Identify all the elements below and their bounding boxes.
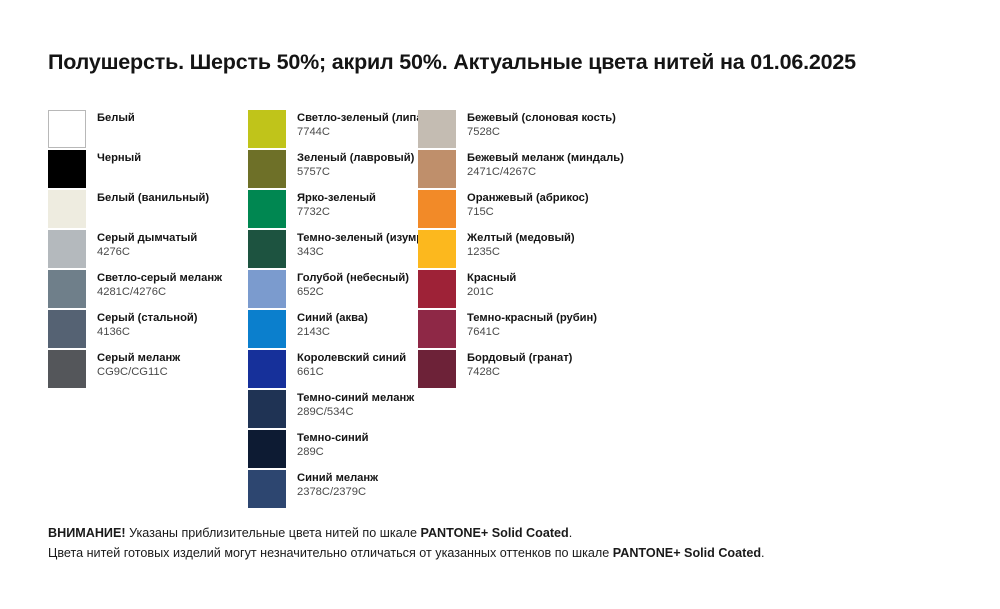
color-row: Темно-синий289C bbox=[248, 430, 418, 470]
color-pantone-code: 7528C bbox=[467, 126, 616, 139]
color-row: Зеленый (лавровый)5757C bbox=[248, 150, 418, 190]
color-name: Голубой (небесный) bbox=[297, 272, 409, 285]
color-row: Бежевый меланж (миндаль)2471C/4267C bbox=[418, 150, 698, 190]
color-swatch bbox=[248, 270, 286, 308]
color-labels: Серый (стальной)4136C bbox=[86, 310, 198, 339]
color-pantone-code: 661C bbox=[297, 366, 406, 379]
color-row: Темно-синий меланж289C/534C bbox=[248, 390, 418, 430]
color-swatch bbox=[418, 350, 456, 388]
color-swatch bbox=[418, 110, 456, 148]
color-pantone-code: CG9C/CG11C bbox=[97, 366, 180, 379]
footer-attention-label: ВНИМАНИЕ! bbox=[48, 526, 126, 540]
color-swatch bbox=[248, 390, 286, 428]
footer-line-1-text: Указаны приблизительные цвета нитей по ш… bbox=[126, 526, 421, 540]
color-labels: Темно-синий289C bbox=[286, 430, 369, 459]
color-labels: Бежевый меланж (миндаль)2471C/4267C bbox=[456, 150, 624, 179]
color-labels: Бордовый (гранат)7428C bbox=[456, 350, 572, 379]
color-swatch bbox=[48, 110, 86, 148]
color-labels: Красный201C bbox=[456, 270, 516, 299]
color-labels: Светло-зеленый (липа)7744C bbox=[286, 110, 426, 139]
color-name: Серый меланж bbox=[97, 352, 180, 365]
color-name: Зеленый (лавровый) bbox=[297, 152, 414, 165]
color-pantone-code: 7732C bbox=[297, 206, 376, 219]
footer-line-2: Цвета нитей готовых изделий могут незнач… bbox=[48, 544, 948, 564]
footer-note: ВНИМАНИЕ! Указаны приблизительные цвета … bbox=[48, 524, 948, 563]
color-row: Королевский синий661C bbox=[248, 350, 418, 390]
swatch-column-1: БелыйЧерныйБелый (ванильный)Серый дымчат… bbox=[48, 110, 248, 510]
color-swatch bbox=[248, 310, 286, 348]
color-labels: Ярко-зеленый7732C bbox=[286, 190, 376, 219]
footer-brand-2: PANTONE+ Solid Coated bbox=[613, 546, 761, 560]
color-swatch bbox=[48, 190, 86, 228]
color-swatch bbox=[48, 350, 86, 388]
color-swatch bbox=[418, 270, 456, 308]
color-pantone-code: 201C bbox=[467, 286, 516, 299]
color-labels: Черный bbox=[86, 150, 141, 165]
color-row: Красный201C bbox=[418, 270, 698, 310]
color-row: Синий меланж2378C/2379C bbox=[248, 470, 418, 510]
color-name: Серый дымчатый bbox=[97, 232, 197, 245]
color-labels: Синий (аква)2143C bbox=[286, 310, 368, 339]
color-labels: Серый дымчатый4276C bbox=[86, 230, 197, 259]
color-row: Серый дымчатый4276C bbox=[48, 230, 248, 270]
color-labels: Оранжевый (абрикос)715C bbox=[456, 190, 589, 219]
color-labels: Желтый (медовый)1235C bbox=[456, 230, 575, 259]
color-swatch bbox=[248, 230, 286, 268]
color-swatch bbox=[418, 150, 456, 188]
footer-line-2-end: . bbox=[761, 546, 765, 560]
color-pantone-code: 1235C bbox=[467, 246, 575, 259]
color-row: Серый (стальной)4136C bbox=[48, 310, 248, 350]
color-swatch bbox=[418, 190, 456, 228]
color-swatch bbox=[248, 150, 286, 188]
color-name: Желтый (медовый) bbox=[467, 232, 575, 245]
color-row: Светло-зеленый (липа)7744C bbox=[248, 110, 418, 150]
color-name: Синий меланж bbox=[297, 472, 378, 485]
color-row: Белый (ванильный) bbox=[48, 190, 248, 230]
color-pantone-code: 289C/534C bbox=[297, 406, 414, 419]
color-name: Бежевый меланж (миндаль) bbox=[467, 152, 624, 165]
color-row: Светло-серый меланж4281C/4276C bbox=[48, 270, 248, 310]
page-title: Полушерсть. Шерсть 50%; акрил 50%. Актуа… bbox=[48, 50, 856, 75]
color-name: Бордовый (гранат) bbox=[467, 352, 572, 365]
color-pantone-code: 7428C bbox=[467, 366, 572, 379]
color-name: Синий (аква) bbox=[297, 312, 368, 325]
color-row: Бордовый (гранат)7428C bbox=[418, 350, 698, 390]
color-name: Белый (ванильный) bbox=[97, 192, 209, 205]
color-row: Синий (аква)2143C bbox=[248, 310, 418, 350]
color-swatch bbox=[48, 230, 86, 268]
footer-brand-1: PANTONE+ Solid Coated bbox=[420, 526, 568, 540]
color-labels: Синий меланж2378C/2379C bbox=[286, 470, 378, 499]
color-swatch bbox=[248, 190, 286, 228]
color-labels: Белый bbox=[86, 110, 135, 125]
color-swatch bbox=[418, 230, 456, 268]
color-pantone-code: 4276C bbox=[97, 246, 197, 259]
color-swatch bbox=[418, 310, 456, 348]
color-labels: Королевский синий661C bbox=[286, 350, 406, 379]
color-labels: Зеленый (лавровый)5757C bbox=[286, 150, 414, 179]
color-row: Желтый (медовый)1235C bbox=[418, 230, 698, 270]
color-row: Серый меланжCG9C/CG11C bbox=[48, 350, 248, 390]
color-row: Голубой (небесный)652C bbox=[248, 270, 418, 310]
color-labels: Светло-серый меланж4281C/4276C bbox=[86, 270, 222, 299]
color-pantone-code: 4136C bbox=[97, 326, 198, 339]
color-name: Белый bbox=[97, 112, 135, 125]
color-row: Темно-красный (рубин)7641C bbox=[418, 310, 698, 350]
color-pantone-code: 652C bbox=[297, 286, 409, 299]
swatch-column-3: Бежевый (слоновая кость)7528CБежевый мел… bbox=[418, 110, 698, 510]
color-swatch bbox=[48, 310, 86, 348]
color-pantone-code: 7744C bbox=[297, 126, 426, 139]
color-row: Темно-зеленый (изумруд)343C bbox=[248, 230, 418, 270]
footer-line-2-text: Цвета нитей готовых изделий могут незнач… bbox=[48, 546, 613, 560]
color-name: Ярко-зеленый bbox=[297, 192, 376, 205]
color-swatch bbox=[248, 430, 286, 468]
color-pantone-code: 5757C bbox=[297, 166, 414, 179]
color-chart-page: Полушерсть. Шерсть 50%; акрил 50%. Актуа… bbox=[0, 0, 1000, 609]
color-pantone-code: 2143C bbox=[297, 326, 368, 339]
color-labels: Темно-красный (рубин)7641C bbox=[456, 310, 597, 339]
color-name: Королевский синий bbox=[297, 352, 406, 365]
footer-line-1: ВНИМАНИЕ! Указаны приблизительные цвета … bbox=[48, 524, 948, 544]
color-labels: Темно-синий меланж289C/534C bbox=[286, 390, 414, 419]
color-labels: Темно-зеленый (изумруд)343C bbox=[286, 230, 440, 259]
color-pantone-code: 289C bbox=[297, 446, 369, 459]
swatch-column-2: Светло-зеленый (липа)7744CЗеленый (лавро… bbox=[248, 110, 418, 510]
color-pantone-code: 2471C/4267C bbox=[467, 166, 624, 179]
color-name: Серый (стальной) bbox=[97, 312, 198, 325]
color-name: Темно-синий меланж bbox=[297, 392, 414, 405]
color-name: Темно-красный (рубин) bbox=[467, 312, 597, 325]
color-name: Бежевый (слоновая кость) bbox=[467, 112, 616, 125]
color-pantone-code: 7641C bbox=[467, 326, 597, 339]
color-labels: Серый меланжCG9C/CG11C bbox=[86, 350, 180, 379]
color-swatch bbox=[48, 270, 86, 308]
color-name: Темно-синий bbox=[297, 432, 369, 445]
color-name: Оранжевый (абрикос) bbox=[467, 192, 589, 205]
color-name: Красный bbox=[467, 272, 516, 285]
color-row: Ярко-зеленый7732C bbox=[248, 190, 418, 230]
color-swatch bbox=[248, 350, 286, 388]
color-pantone-code: 4281C/4276C bbox=[97, 286, 222, 299]
color-row: Оранжевый (абрикос)715C bbox=[418, 190, 698, 230]
color-row: Черный bbox=[48, 150, 248, 190]
color-swatch bbox=[48, 150, 86, 188]
color-row: Бежевый (слоновая кость)7528C bbox=[418, 110, 698, 150]
color-pantone-code: 2378C/2379C bbox=[297, 486, 378, 499]
color-name: Черный bbox=[97, 152, 141, 165]
color-name: Светло-серый меланж bbox=[97, 272, 222, 285]
swatch-columns: БелыйЧерныйБелый (ванильный)Серый дымчат… bbox=[48, 110, 958, 510]
footer-line-1-end: . bbox=[569, 526, 573, 540]
color-swatch bbox=[248, 110, 286, 148]
color-row: Белый bbox=[48, 110, 248, 150]
color-name: Светло-зеленый (липа) bbox=[297, 112, 426, 125]
color-labels: Голубой (небесный)652C bbox=[286, 270, 409, 299]
color-pantone-code: 715C bbox=[467, 206, 589, 219]
color-labels: Бежевый (слоновая кость)7528C bbox=[456, 110, 616, 139]
color-swatch bbox=[248, 470, 286, 508]
color-labels: Белый (ванильный) bbox=[86, 190, 209, 205]
